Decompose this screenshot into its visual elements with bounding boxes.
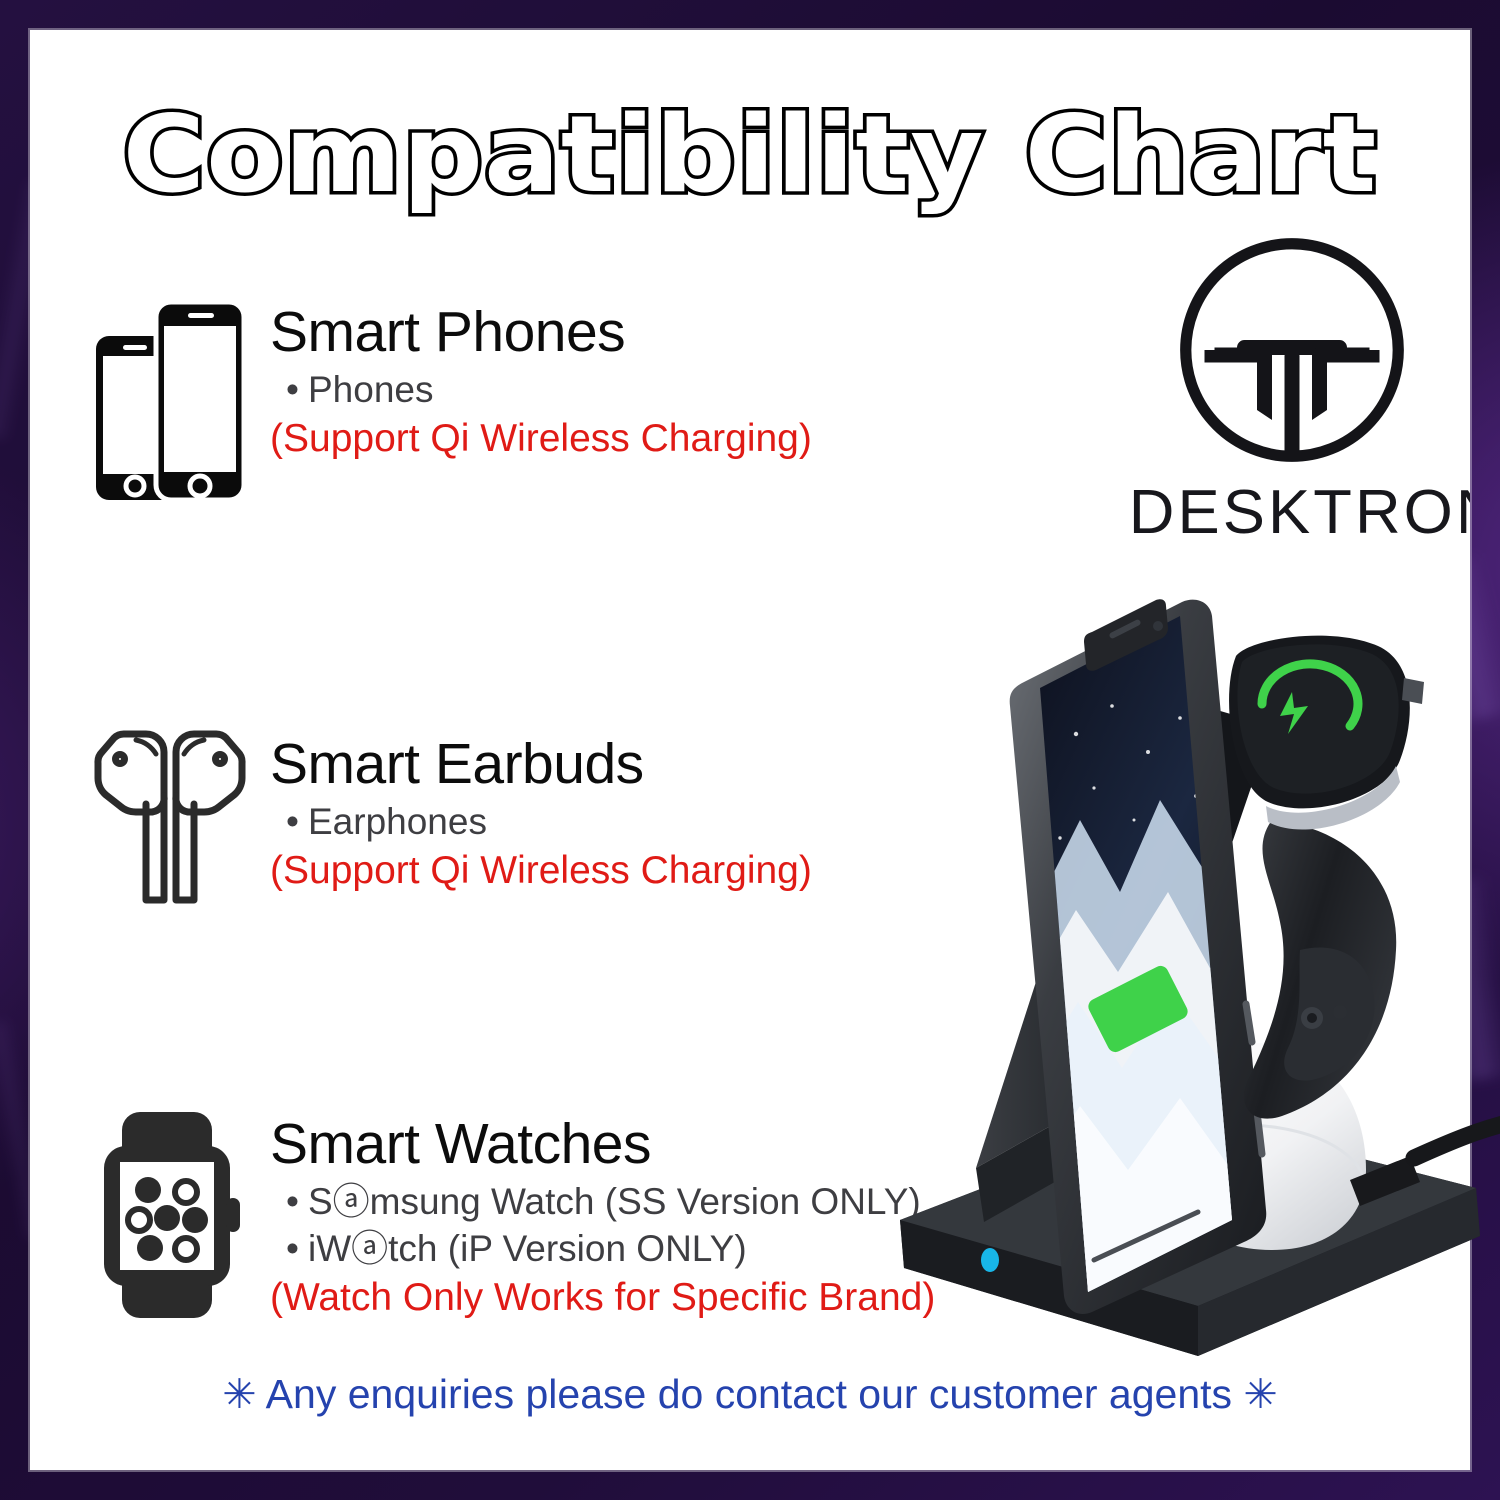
section-bullets: •Earphones — [270, 799, 812, 846]
section-smart-phones: Smart Phones •Phones (Support Qi Wireles… — [80, 298, 812, 503]
section-bullets: •Sⓐmsung Watch (SS Version ONLY) •iWⓐtch… — [270, 1179, 935, 1272]
footer-note: ✳ Any enquiries please do contact our cu… — [30, 1370, 1470, 1418]
list-item: •Sⓐmsung Watch (SS Version ONLY) — [286, 1179, 935, 1226]
product-image-charging-stand — [880, 520, 1500, 1350]
section-note: (Watch Only Works for Specific Brand) — [270, 1275, 935, 1322]
desktron-circle-t-logo-icon — [1167, 225, 1417, 475]
bullet-dot: • — [286, 1226, 308, 1273]
list-item: •Phones — [286, 367, 812, 414]
brand-logo: DESKTRON — [1132, 225, 1452, 548]
section-title: Smart Phones — [270, 302, 812, 362]
poster-frame: Compatibility Chart DESKTRON — [0, 0, 1500, 1500]
smartwatch-icon — [80, 1110, 260, 1320]
section-title: Smart Watches — [270, 1114, 935, 1174]
wireless-earbuds-icon — [80, 730, 260, 908]
section-body: Smart Watches •Sⓐmsung Watch (SS Version… — [260, 1110, 935, 1321]
list-item: •iWⓐtch (iP Version ONLY) — [286, 1226, 935, 1273]
bullet-dot: • — [286, 799, 308, 846]
bullet-dot: • — [286, 367, 308, 414]
section-smart-earbuds: Smart Earbuds •Earphones (Support Qi Wir… — [80, 730, 812, 908]
section-body: Smart Earbuds •Earphones (Support Qi Wir… — [260, 730, 812, 895]
section-note: (Support Qi Wireless Charging) — [270, 416, 812, 463]
list-item-label: Sⓐmsung Watch (SS Version ONLY) — [308, 1181, 921, 1222]
list-item-label: iWⓐtch (iP Version ONLY) — [308, 1228, 747, 1269]
section-bullets: •Phones — [270, 367, 812, 414]
page-title: Compatibility Chart — [30, 102, 1470, 208]
section-title: Smart Earbuds — [270, 734, 812, 794]
section-body: Smart Phones •Phones (Support Qi Wireles… — [260, 298, 812, 463]
list-item-label: Phones — [308, 369, 434, 410]
section-smart-watches: Smart Watches •Sⓐmsung Watch (SS Version… — [80, 1110, 935, 1321]
bullet-dot: • — [286, 1179, 308, 1226]
power-led-icon — [981, 1248, 999, 1272]
list-item-label: Earphones — [308, 801, 487, 842]
section-note: (Support Qi Wireless Charging) — [270, 848, 812, 895]
two-smartphones-icon — [80, 298, 260, 503]
list-item: •Earphones — [286, 799, 812, 846]
